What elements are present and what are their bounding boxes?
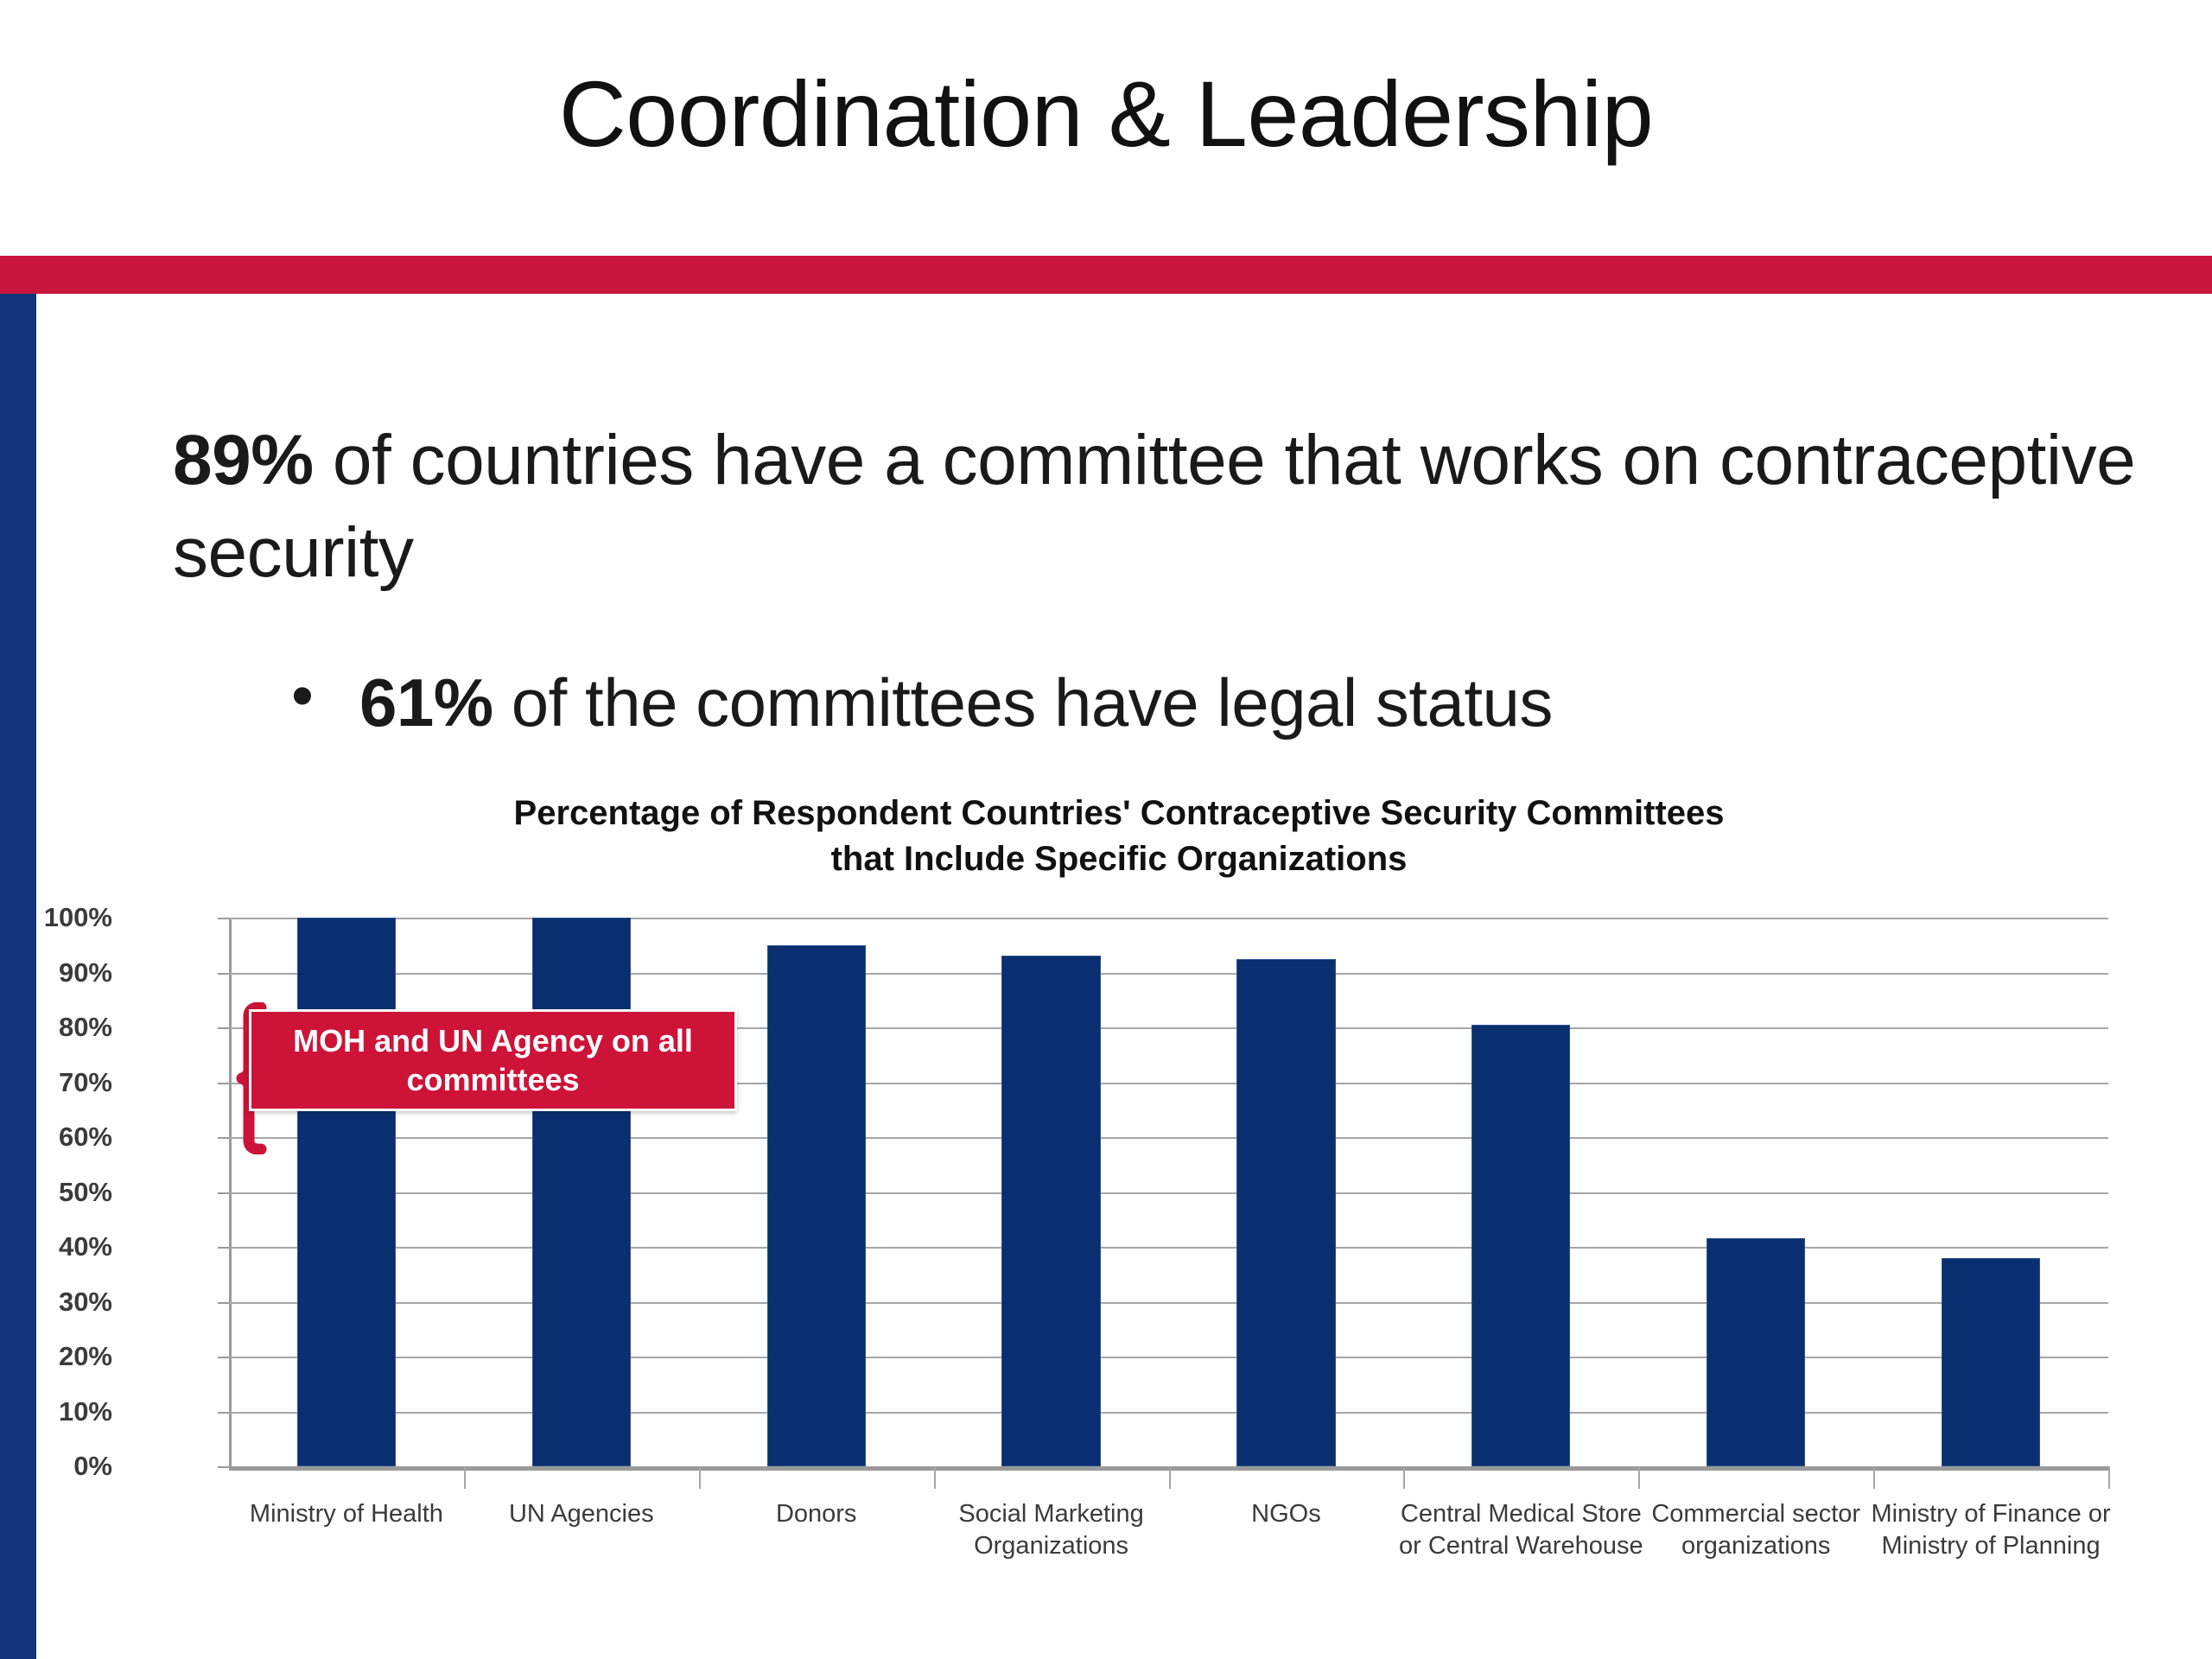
x-axis-label: Ministry of Finance orMinistry of Planni… (1846, 1498, 2137, 1562)
callout-badge[interactable]: MOH and UN Agency on all committees (249, 1009, 737, 1111)
x-axis-tick (934, 1466, 936, 1489)
y-axis-label: 10% (0, 1396, 112, 1427)
y-axis-tick (218, 1247, 229, 1249)
y-axis-label: 80% (0, 1012, 112, 1043)
y-axis-tick (218, 1137, 229, 1139)
gridline (229, 1412, 2108, 1414)
y-axis-tick (218, 1357, 229, 1358)
x-axis-label-line: Ministry of Finance or (1846, 1498, 2137, 1530)
bar (297, 918, 396, 1466)
bar-chart: Percentage of Respondent Countries' Cont… (0, 791, 2212, 1659)
x-axis-tick (464, 1466, 466, 1489)
lead-statement: 89% of countries have a committee that w… (173, 415, 2143, 599)
header-red-rule (0, 256, 2212, 294)
bullet-marker-icon: • (285, 665, 320, 726)
y-axis-label: 40% (0, 1231, 112, 1262)
y-axis-label: 100% (0, 902, 112, 933)
x-axis-label-line: Organizations (906, 1530, 1197, 1562)
bar (1001, 956, 1100, 1466)
page-title: Coordination & Leadership (0, 67, 2212, 161)
gridline (229, 918, 2108, 919)
y-axis-tick (218, 1302, 229, 1304)
y-axis-tick (218, 1083, 229, 1084)
bullet-text: 61% of the committees have legal status (359, 665, 1553, 741)
y-axis-tick (218, 1027, 229, 1029)
y-axis-label: 0% (0, 1451, 112, 1482)
gridline (229, 1247, 2108, 1249)
bullet-statement-text: of the committees have legal status (493, 664, 1553, 741)
y-axis-tick (218, 1466, 229, 1468)
x-axis-tick (699, 1466, 701, 1489)
chart-title-line-1: Percentage of Respondent Countries' Cont… (285, 791, 1953, 836)
bullet-stat-value: 61% (359, 664, 493, 741)
y-axis-label: 60% (0, 1122, 112, 1153)
gridline (229, 1192, 2108, 1194)
y-axis-label: 90% (0, 957, 112, 988)
x-axis-tick (1873, 1466, 1875, 1489)
y-axis-label: 30% (0, 1287, 112, 1318)
lead-stat-value: 89% (173, 421, 314, 499)
y-axis-label: 50% (0, 1177, 112, 1208)
y-axis-tick (218, 918, 229, 919)
bar (1471, 1025, 1570, 1466)
x-axis-tick (2108, 1466, 2110, 1489)
x-axis-tick (1169, 1466, 1171, 1489)
gridline (229, 1302, 2108, 1304)
gridline (229, 1137, 2108, 1139)
callout-text: MOH and UN Agency on all committees (251, 1021, 734, 1099)
y-axis-tick (218, 1192, 229, 1194)
y-axis-tick (218, 1412, 229, 1414)
bar (1236, 959, 1335, 1466)
slide-canvas: Coordination & Leadership 89% of countri… (0, 0, 2212, 1659)
x-axis-label-line: Ministry of Planning (1846, 1530, 2137, 1562)
bar (532, 918, 631, 1466)
y-axis-tick (218, 973, 229, 975)
bar (1942, 1258, 2040, 1466)
lead-statement-text: of countries have a committee that works… (173, 421, 2135, 592)
gridline (229, 1357, 2108, 1358)
y-axis-label: 70% (0, 1067, 112, 1098)
chart-title-line-2: that Include Specific Organizations (285, 836, 1953, 882)
plot-area-wrapper: 100%90%80%70%60%50%40%30%20%10%0% Minist… (229, 918, 2108, 1466)
bullet-list-item: • 61% of the committees have legal statu… (285, 665, 2143, 741)
bar (767, 945, 866, 1466)
y-axis-label: 20% (0, 1341, 112, 1372)
chart-title: Percentage of Respondent Countries' Cont… (285, 791, 1953, 882)
gridline (229, 973, 2108, 975)
body-copy: 89% of countries have a committee that w… (173, 415, 2143, 599)
x-axis-tick (1403, 1466, 1405, 1489)
bar (1707, 1238, 1805, 1466)
x-axis-tick (1638, 1466, 1640, 1489)
